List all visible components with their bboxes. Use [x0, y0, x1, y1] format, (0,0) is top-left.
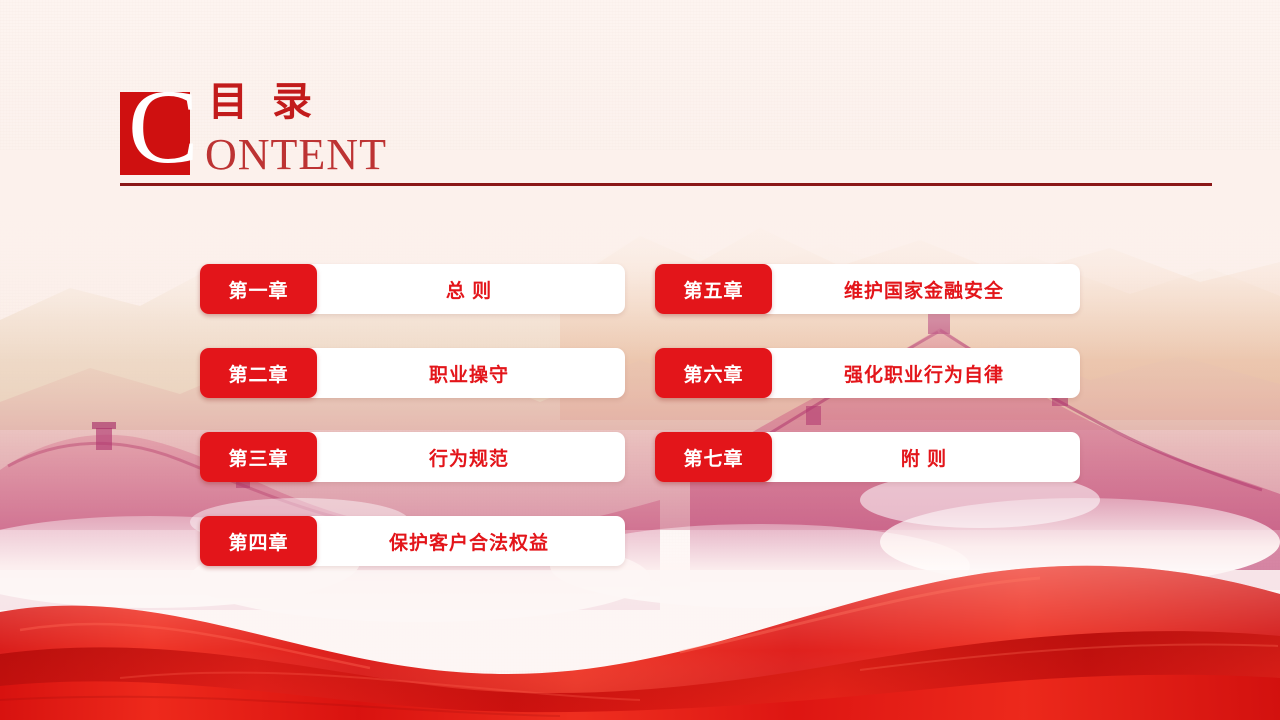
chapter-tag[interactable]: 第四章 — [200, 516, 317, 566]
chapter-item[interactable]: 第二章 职业操守 — [200, 348, 625, 398]
chapter-tag[interactable]: 第二章 — [200, 348, 317, 398]
chapter-item[interactable]: 第五章 维护国家金融安全 — [655, 264, 1080, 314]
chapter-title[interactable]: 强化职业行为自律 — [772, 348, 1080, 398]
page-title: C 目 录 ONTENT — [120, 88, 540, 188]
chapter-item[interactable]: 第一章 总 则 — [200, 264, 625, 314]
slide-canvas: C 目 录 ONTENT 第一章 总 则 第二章 职业操守 第三章 行为规范 第… — [0, 0, 1280, 720]
chapter-title[interactable]: 维护国家金融安全 — [772, 264, 1080, 314]
chapter-item[interactable]: 第四章 保护客户合法权益 — [200, 516, 625, 566]
red-silk-ribbon — [0, 560, 1280, 720]
chapter-item[interactable]: 第七章 附 则 — [655, 432, 1080, 482]
chapter-tag[interactable]: 第七章 — [655, 432, 772, 482]
chapter-title[interactable]: 职业操守 — [317, 348, 625, 398]
chapter-title[interactable]: 行为规范 — [317, 432, 625, 482]
chapter-tag[interactable]: 第三章 — [200, 432, 317, 482]
chapter-column-left: 第一章 总 则 第二章 职业操守 第三章 行为规范 第四章 保护客户合法权益 — [200, 264, 625, 566]
title-divider-rule — [120, 183, 1212, 186]
chapter-title[interactable]: 附 则 — [772, 432, 1080, 482]
chapter-column-right: 第五章 维护国家金融安全 第六章 强化职业行为自律 第七章 附 则 — [655, 264, 1080, 482]
title-chinese: 目 录 — [208, 82, 319, 122]
chapter-tag[interactable]: 第一章 — [200, 264, 317, 314]
title-english: ONTENT — [205, 133, 387, 177]
chapter-title[interactable]: 保护客户合法权益 — [317, 516, 625, 566]
title-badge-letter: C — [128, 74, 199, 180]
chapter-tag[interactable]: 第六章 — [655, 348, 772, 398]
chapter-title[interactable]: 总 则 — [317, 264, 625, 314]
chapter-item[interactable]: 第六章 强化职业行为自律 — [655, 348, 1080, 398]
chapter-tag[interactable]: 第五章 — [655, 264, 772, 314]
chapter-item[interactable]: 第三章 行为规范 — [200, 432, 625, 482]
